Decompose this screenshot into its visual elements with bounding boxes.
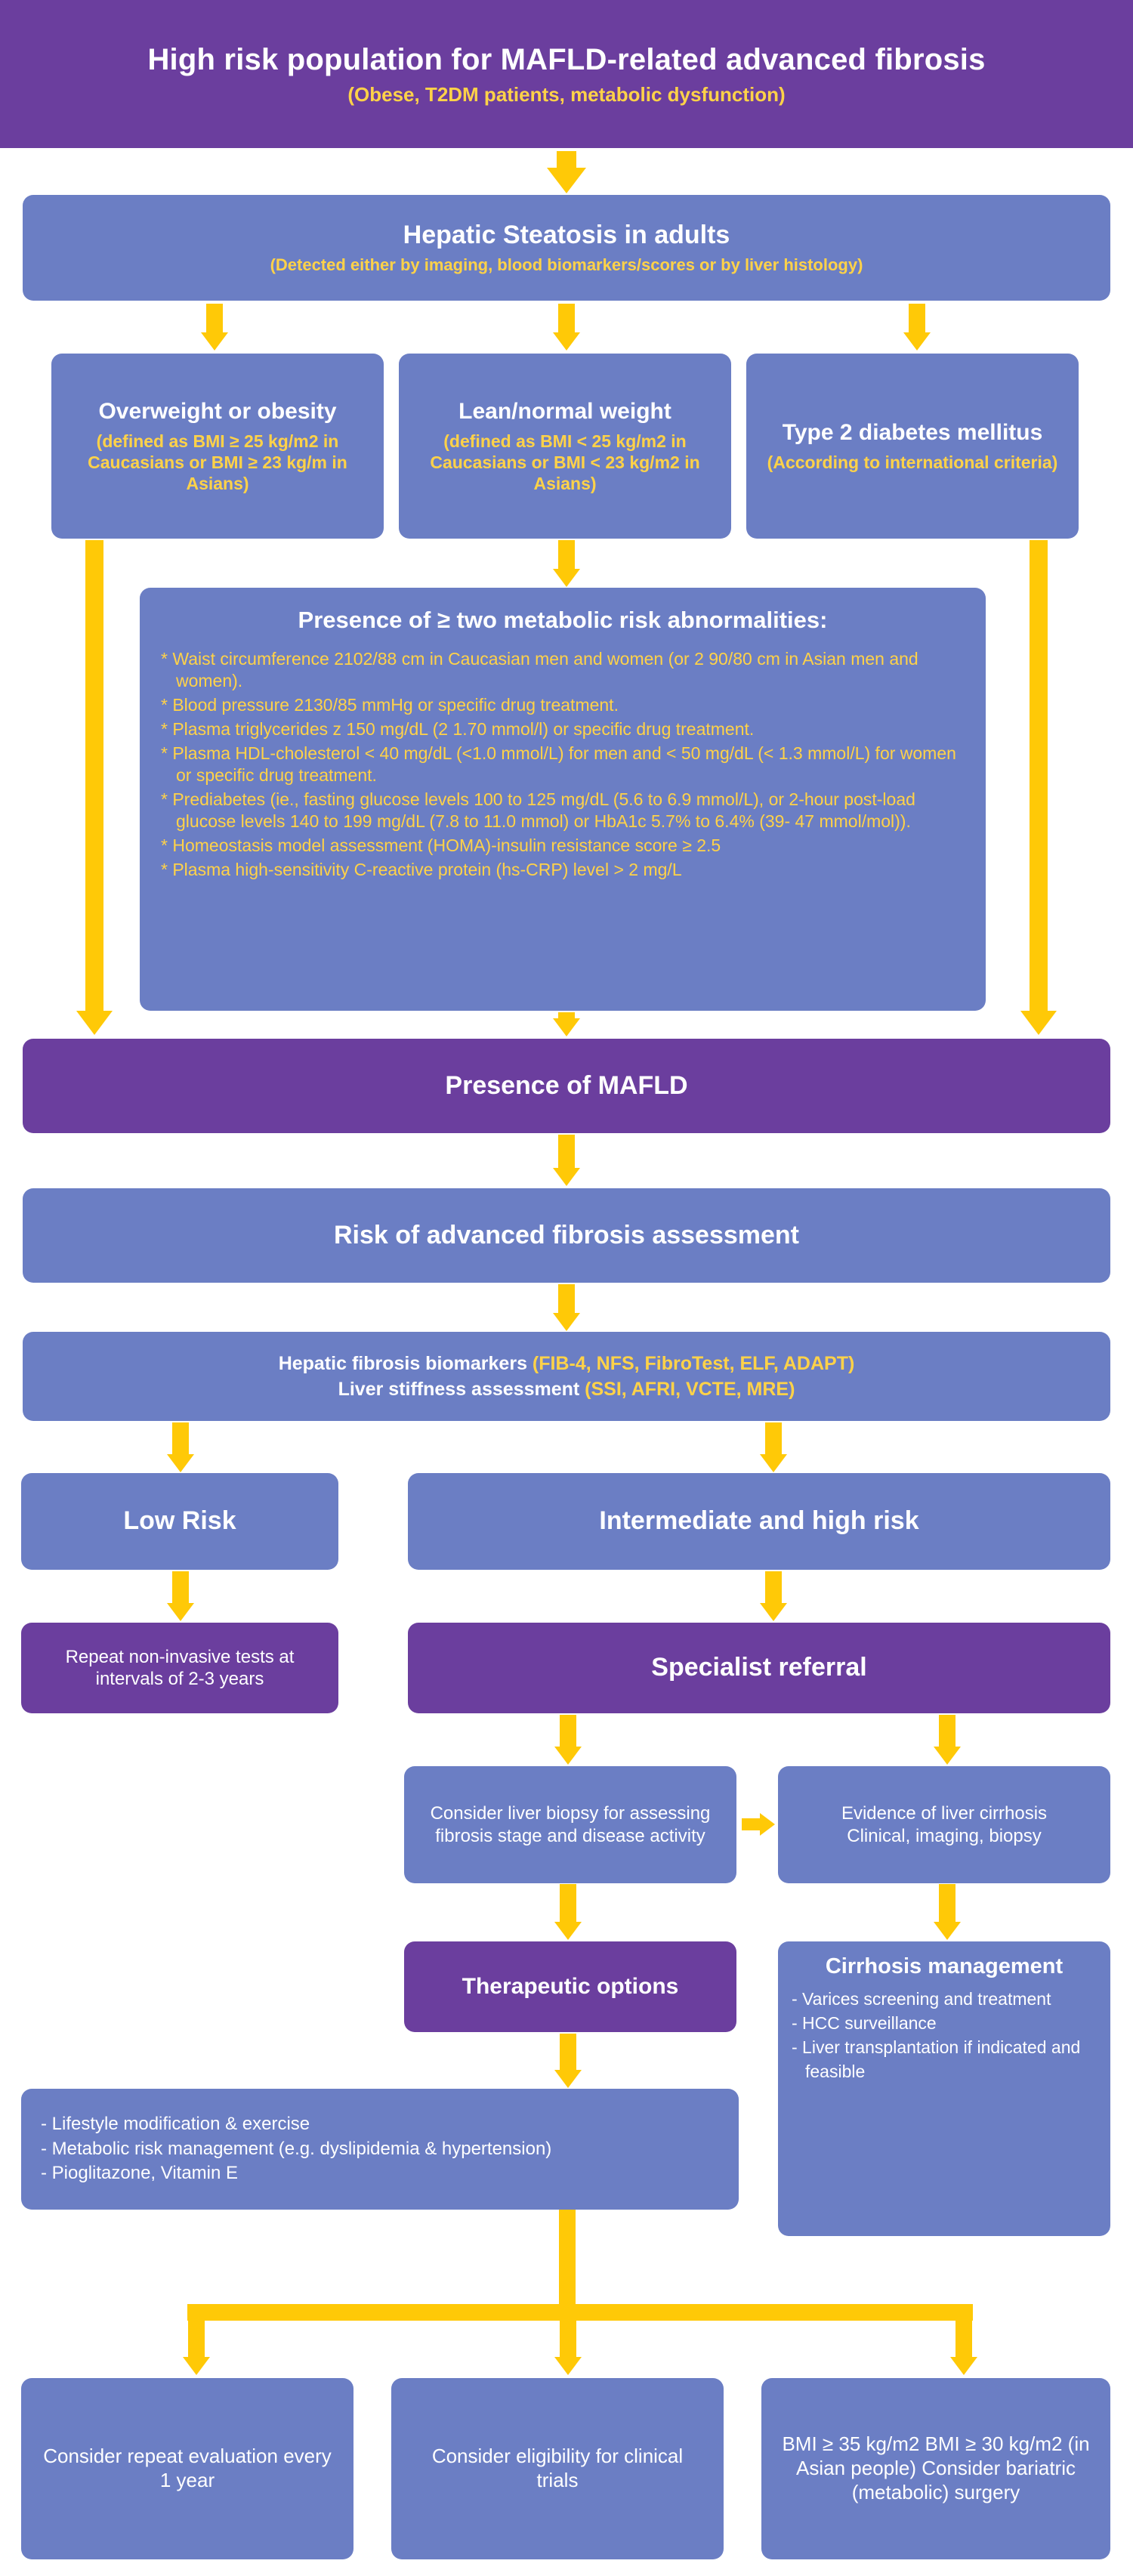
arrow-biomarkers-to-low-risk bbox=[162, 1422, 199, 1472]
criteria-box-overweight: Overweight or obesity (defined as BMI ≥ … bbox=[51, 354, 384, 539]
cirrhosis-evidence-line-2: Clinical, imaging, biopsy bbox=[847, 1825, 1041, 1847]
mafld-title: Presence of MAFLD bbox=[445, 1070, 687, 1101]
outcome-bariatric-surgery-text: BMI ≥ 35 kg/m2 BMI ≥ 30 kg/m2 (in Asian … bbox=[776, 2432, 1095, 2504]
presence-of-mafld-box: Presence of MAFLD bbox=[23, 1039, 1110, 1133]
criteria-overweight-title: Overweight or obesity bbox=[98, 398, 336, 426]
outcome-box-clinical-trials: Consider eligibility for clinical trials bbox=[391, 2378, 724, 2559]
metabolic-bullet-waist: * Waist circumference 2102/88 cm in Cauc… bbox=[161, 648, 965, 692]
intermediate-high-risk-box: Intermediate and high risk bbox=[408, 1473, 1110, 1570]
cirrhosis-management-list: - Varices screening and treatment - HCC … bbox=[792, 1988, 1097, 2083]
steatosis-title: Hepatic Steatosis in adults bbox=[403, 220, 730, 251]
arrow-evidence-to-cirrhosis-mgmt bbox=[929, 1884, 965, 1940]
arrow-steatosis-to-t2dm bbox=[899, 304, 935, 351]
biomarkers-line-2: Liver stiffness assessment (SSI, AFRI, V… bbox=[338, 1378, 795, 1401]
arrow-biomarkers-to-intermediate bbox=[755, 1422, 792, 1472]
stiffness-values: (SSI, AFRI, VCTE, MRE) bbox=[585, 1379, 795, 1400]
metabolic-risk-bullet-list: * Waist circumference 2102/88 cm in Cauc… bbox=[161, 648, 965, 883]
arrow-therapeutic-to-details bbox=[550, 2034, 586, 2088]
low-risk-title: Low Risk bbox=[123, 1506, 236, 1537]
arrow-specialist-to-cirrhosis-evidence bbox=[929, 1715, 965, 1765]
outcome-repeat-evaluation-text: Consider repeat evaluation every 1 year bbox=[39, 2445, 335, 2492]
therapy-item-lifestyle: - Lifestyle modification & exercise bbox=[41, 2112, 719, 2136]
repeat-tests-box: Repeat non-invasive tests at intervals o… bbox=[21, 1623, 338, 1713]
criteria-lean-title: Lean/normal weight bbox=[458, 398, 671, 426]
metabolic-bullet-prediabetes: * Prediabetes (ie., fasting glucose leve… bbox=[161, 789, 965, 832]
metabolic-bullet-hscrp: * Plasma high-sensitivity C-reactive pro… bbox=[161, 859, 965, 881]
metabolic-bullet-homa: * Homeostasis model assessment (HOMA)-in… bbox=[161, 835, 965, 857]
steatosis-subtitle: (Detected either by imaging, blood bioma… bbox=[270, 255, 863, 276]
arrow-header-to-steatosis bbox=[542, 151, 591, 193]
fibrosis-assessment-box: Risk of advanced fibrosis assessment bbox=[23, 1188, 1110, 1283]
header-title: High risk population for MAFLD-related a… bbox=[147, 42, 985, 79]
criteria-lean-subtitle: (defined as BMI < 25 kg/m2 in Caucasians… bbox=[411, 431, 719, 494]
outcome-box-repeat-evaluation: Consider repeat evaluation every 1 year bbox=[21, 2378, 353, 2559]
criteria-t2dm-subtitle: (According to international criteria) bbox=[767, 452, 1058, 473]
arrow-intermediate-to-specialist bbox=[755, 1571, 792, 1621]
therapeutic-options-title: Therapeutic options bbox=[462, 1973, 679, 2001]
therapy-item-pioglitazone: - Pioglitazone, Vitamin E bbox=[41, 2161, 719, 2185]
intermediate-risk-title: Intermediate and high risk bbox=[599, 1506, 918, 1537]
repeat-tests-text: Repeat non-invasive tests at intervals o… bbox=[36, 1646, 323, 1691]
cirrhosis-management-title: Cirrhosis management bbox=[792, 1954, 1097, 1980]
specialist-referral-title: Specialist referral bbox=[651, 1652, 866, 1683]
arrow-steatosis-to-lean bbox=[548, 304, 585, 351]
liver-biopsy-text: Consider liver biopsy for assessing fibr… bbox=[421, 1802, 720, 1847]
specialist-referral-box: Specialist referral bbox=[408, 1623, 1110, 1713]
arrow-biopsy-to-therapeutic bbox=[550, 1884, 586, 1940]
cirrhosis-item-varices: - Varices screening and treatment bbox=[792, 1988, 1097, 2012]
arrow-specialist-to-biopsy bbox=[550, 1715, 586, 1765]
arrow-split-to-bariatric bbox=[946, 2304, 982, 2375]
arrow-overweight-to-mafld bbox=[72, 540, 117, 1035]
metabolic-bullet-bp: * Blood pressure 2130/85 mmHg or specifi… bbox=[161, 694, 965, 716]
arrow-steatosis-to-overweight bbox=[196, 304, 233, 351]
therapy-item-metabolic-risk: - Metabolic risk management (e.g. dyslip… bbox=[41, 2137, 719, 2161]
arrow-split-to-repeat-eval bbox=[178, 2304, 215, 2375]
arrow-metabolic-to-mafld bbox=[548, 1012, 585, 1036]
low-risk-box: Low Risk bbox=[21, 1473, 338, 1570]
header-subtitle: (Obese, T2DM patients, metabolic dysfunc… bbox=[347, 83, 785, 107]
cirrhosis-item-hcc: - HCC surveillance bbox=[792, 2012, 1097, 2036]
splitter-stem bbox=[559, 2210, 576, 2304]
metabolic-risk-title: Presence of ≥ two metabolic risk abnorma… bbox=[161, 606, 965, 635]
biomarkers-line-1: Hepatic fibrosis biomarkers (FIB-4, NFS,… bbox=[279, 1352, 855, 1376]
cirrhosis-evidence-line-1: Evidence of liver cirrhosis bbox=[841, 1802, 1047, 1824]
cirrhosis-evidence-box: Evidence of liver cirrhosis Clinical, im… bbox=[778, 1766, 1110, 1883]
metabolic-bullet-hdl: * Plasma HDL-cholesterol < 40 mg/dL (<1.… bbox=[161, 743, 965, 786]
biomarkers-label: Hepatic fibrosis biomarkers bbox=[279, 1353, 533, 1374]
arrow-mafld-to-assessment bbox=[548, 1135, 585, 1186]
therapy-details-list: - Lifestyle modification & exercise - Me… bbox=[41, 2112, 719, 2185]
metabolic-bullet-triglycerides: * Plasma triglycerides z 150 mg/dL (2 1.… bbox=[161, 718, 965, 740]
cirrhosis-management-box: Cirrhosis management - Varices screening… bbox=[778, 1941, 1110, 2236]
criteria-box-lean: Lean/normal weight (defined as BMI < 25 … bbox=[399, 354, 731, 539]
arrow-t2dm-to-mafld bbox=[1016, 540, 1061, 1035]
therapy-details-box: - Lifestyle modification & exercise - Me… bbox=[21, 2089, 739, 2210]
arrow-lean-to-metabolic bbox=[548, 540, 585, 587]
criteria-box-t2dm: Type 2 diabetes mellitus (According to i… bbox=[746, 354, 1079, 539]
flowchart-canvas: High risk population for MAFLD-related a… bbox=[0, 0, 1133, 2576]
biomarkers-values: (FIB-4, NFS, FibroTest, ELF, ADAPT) bbox=[533, 1353, 854, 1374]
arrow-assessment-to-biomarkers bbox=[548, 1284, 585, 1331]
arrow-split-to-clinical-trials bbox=[550, 2304, 586, 2375]
metabolic-risk-box: Presence of ≥ two metabolic risk abnorma… bbox=[140, 588, 986, 1011]
cirrhosis-item-transplant: - Liver transplantation if indicated and… bbox=[792, 2036, 1097, 2083]
header-banner: High risk population for MAFLD-related a… bbox=[0, 0, 1133, 148]
outcome-box-bariatric-surgery: BMI ≥ 35 kg/m2 BMI ≥ 30 kg/m2 (in Asian … bbox=[761, 2378, 1110, 2559]
hepatic-steatosis-box: Hepatic Steatosis in adults (Detected ei… bbox=[23, 195, 1110, 301]
therapeutic-options-box: Therapeutic options bbox=[404, 1941, 736, 2032]
fibrosis-assessment-title: Risk of advanced fibrosis assessment bbox=[334, 1220, 799, 1251]
criteria-overweight-subtitle: (defined as BMI ≥ 25 kg/m2 in Caucasians… bbox=[63, 431, 372, 494]
arrow-low-risk-to-repeat-tests bbox=[162, 1571, 199, 1621]
stiffness-label: Liver stiffness assessment bbox=[338, 1379, 585, 1400]
biomarkers-box: Hepatic fibrosis biomarkers (FIB-4, NFS,… bbox=[23, 1332, 1110, 1421]
outcome-clinical-trials-text: Consider eligibility for clinical trials bbox=[409, 2445, 705, 2492]
criteria-t2dm-title: Type 2 diabetes mellitus bbox=[783, 419, 1043, 447]
arrow-biopsy-to-cirrhosis-evidence bbox=[742, 1813, 775, 1836]
liver-biopsy-box: Consider liver biopsy for assessing fibr… bbox=[404, 1766, 736, 1883]
